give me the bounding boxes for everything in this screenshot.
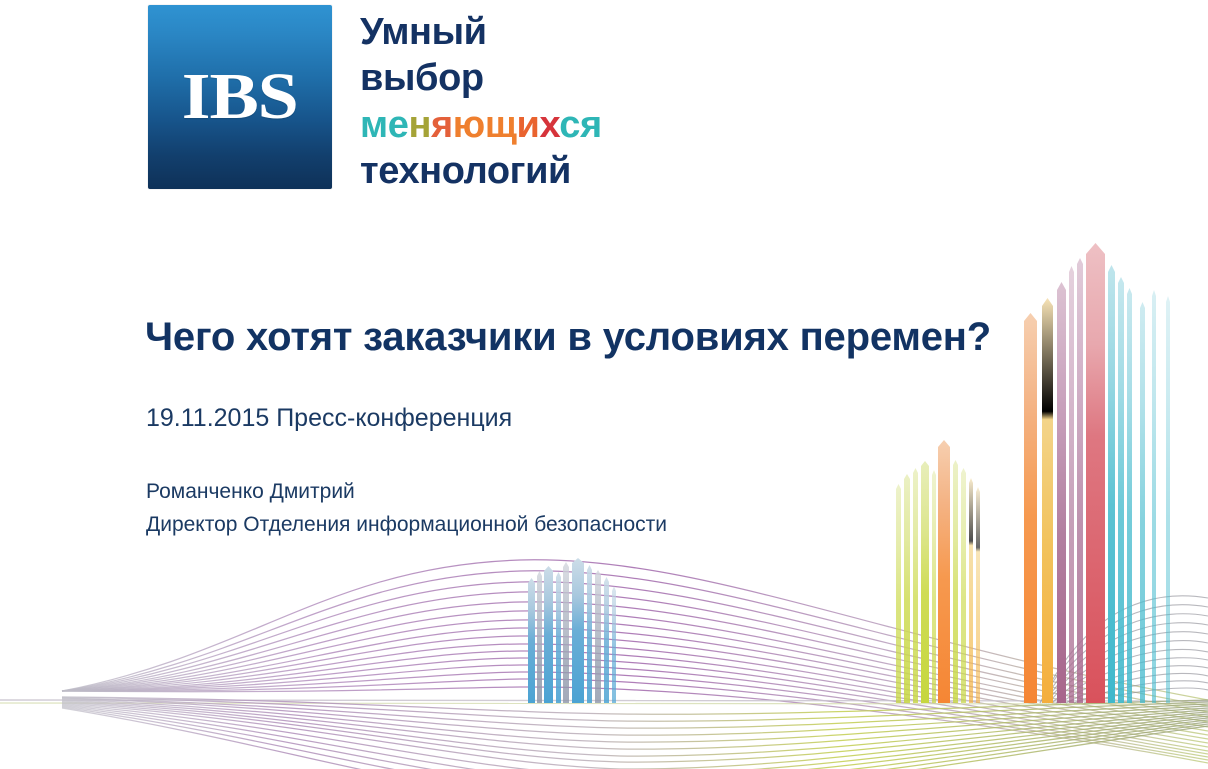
ibs-logo-mark: IBS — [148, 5, 332, 189]
bar-cluster-tall — [1024, 243, 1170, 703]
bar-cluster-blue — [528, 558, 616, 703]
tagline-line-3-colored: меняющихся — [360, 102, 602, 148]
wave-lines-upper — [62, 560, 1208, 763]
tagline-colored-segment-1: н — [408, 104, 431, 146]
tagline-colored-segment-4: щ — [485, 104, 517, 146]
ibs-logo-wordmark: IBS — [182, 64, 298, 130]
wave-lines-right-arcs — [1040, 596, 1208, 703]
brand-logo-block: IBS Умный выбор меняющихся технологий — [148, 5, 602, 194]
presentation-slide: IBS Умный выбор меняющихся технологий Че… — [0, 0, 1208, 769]
tagline-line-4: технологий — [360, 148, 602, 194]
tagline-colored-segment-6: х — [540, 104, 560, 146]
bar-cluster-green — [896, 440, 980, 703]
title-block: Чего хотят заказчики в условиях перемен? — [145, 288, 991, 386]
presenter-role: Директор Отделения информационной безопа… — [146, 509, 667, 542]
slide-title: Чего хотят заказчики в условиях перемен? — [145, 315, 991, 359]
tagline-line-1: Умный — [360, 9, 602, 55]
slide-date-and-event: 19.11.2015 Пресс-конференция — [146, 404, 512, 433]
wave-lines-lower — [62, 697, 1208, 769]
tagline-line-2: выбор — [360, 55, 602, 101]
tagline-colored-segment-0: ме — [360, 104, 408, 146]
tagline-colored-segment-2: я — [431, 104, 453, 146]
tagline-colored-segment-7: ся — [559, 104, 602, 146]
wave-center-line — [0, 700, 1208, 704]
brand-tagline: Умный выбор меняющихся технологий — [360, 9, 602, 194]
presenter-name: Романченко Дмитрий — [146, 476, 667, 509]
tagline-colored-segment-3: ю — [453, 104, 485, 146]
presenter-block: Романченко Дмитрий Директор Отделения ин… — [146, 476, 667, 541]
tagline-colored-segment-5: и — [517, 104, 540, 146]
